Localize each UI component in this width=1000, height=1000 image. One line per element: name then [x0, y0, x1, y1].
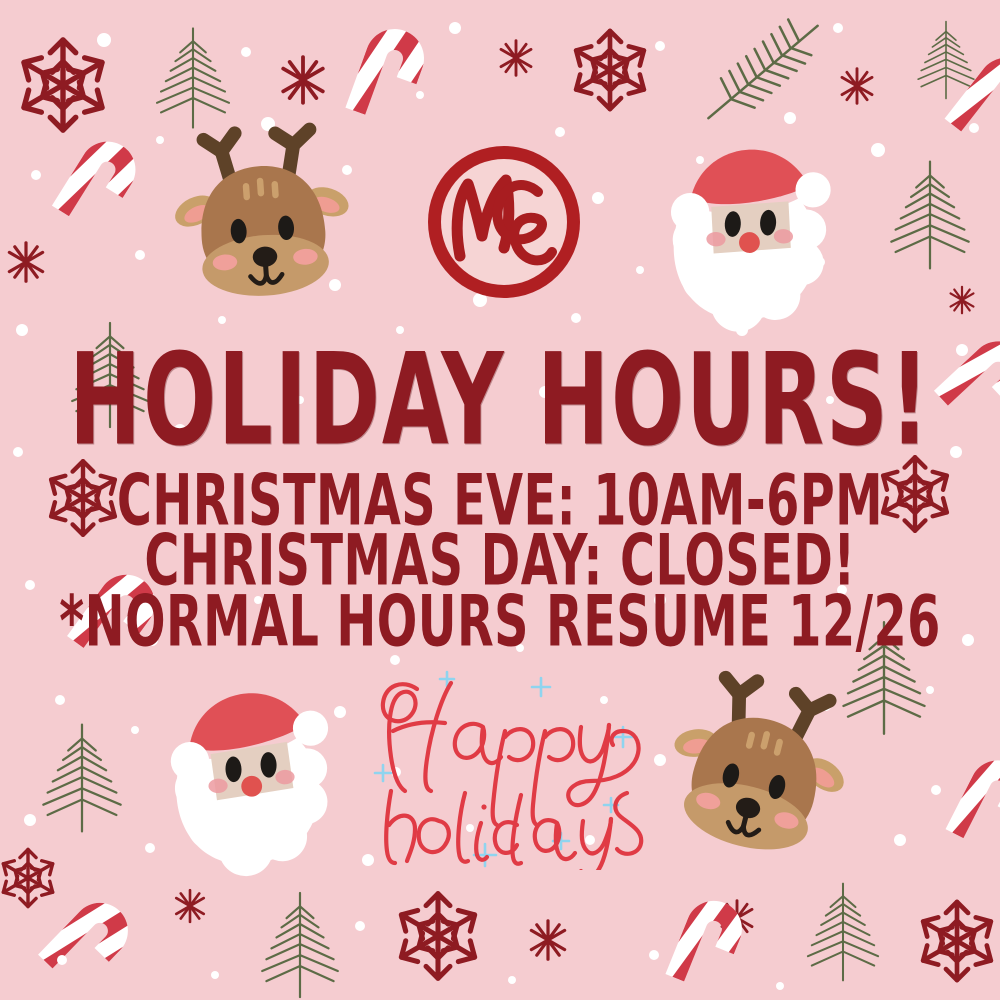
- hours-line-normal-resume: *NORMAL HOURS RESUME 12/26: [35, 587, 965, 658]
- holiday-hours-poster: HOLIDAY HOURS! CHRISTMAS EVE: 10AM-6PM C…: [0, 0, 1000, 1000]
- page-title: HOLIDAY HOURS!: [40, 336, 960, 463]
- happy-holidays-lettering: [365, 665, 655, 870]
- text-content: HOLIDAY HOURS! CHRISTMAS EVE: 10AM-6PM C…: [0, 0, 1000, 1000]
